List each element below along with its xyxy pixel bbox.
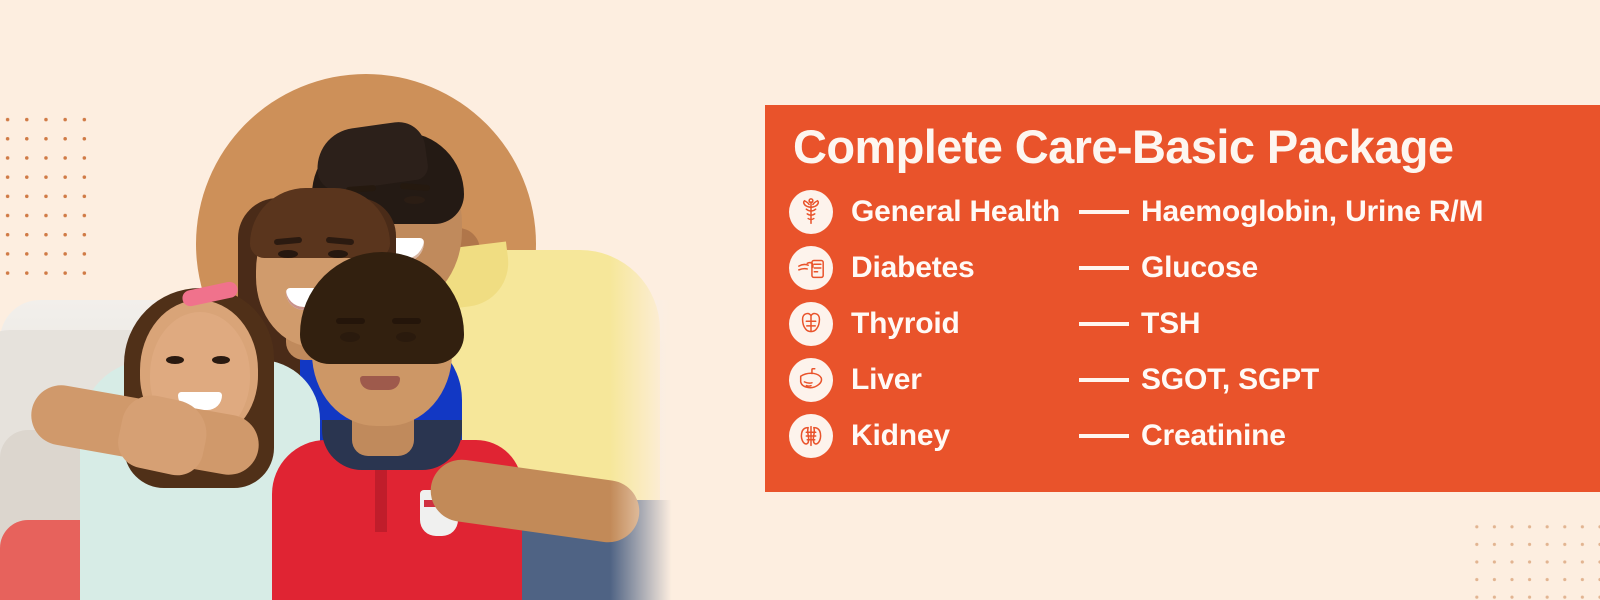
mother-eye-right (328, 250, 348, 258)
health-package-banner: Complete Care-Basic Package (0, 0, 1600, 600)
package-panel: Complete Care-Basic Package (765, 105, 1600, 492)
mother-eye-left (278, 250, 298, 258)
row-separator-dash (1079, 322, 1129, 326)
package-title: Complete Care-Basic Package (793, 123, 1600, 170)
package-row-tests: Creatinine (1141, 419, 1600, 453)
package-row-system: Liver (851, 363, 1079, 397)
boy-brow-right (392, 318, 421, 324)
package-row-system: General Health (851, 195, 1079, 229)
package-row-system: Kidney (851, 419, 1079, 453)
package-row-tests: TSH (1141, 307, 1600, 341)
row-separator-dash (1079, 434, 1129, 438)
thyroid-icon (789, 302, 833, 346)
family-photo (0, 0, 674, 600)
package-row-tests: Haemoglobin, Urine R/M (1141, 195, 1600, 229)
package-test-list: General Health Haemoglobin, Urine R/M (779, 184, 1600, 464)
package-row-tests: SGOT, SGPT (1141, 363, 1600, 397)
girl-eye-right (212, 356, 230, 364)
liver-icon (789, 358, 833, 402)
photo-edge-fade (610, 0, 674, 600)
glucometer-icon (789, 246, 833, 290)
package-row-general-health: General Health Haemoglobin, Urine R/M (779, 184, 1600, 240)
row-separator-dash (1079, 266, 1129, 270)
girl-eye-left (166, 356, 184, 364)
boy-brow-left (336, 318, 365, 324)
boy-eye-right (396, 332, 416, 342)
dot-grid-bottom-right (1466, 516, 1600, 600)
kidney-icon (789, 414, 833, 458)
boy-mouth (360, 376, 400, 390)
boy-eye-left (340, 332, 360, 342)
row-separator-dash (1079, 210, 1129, 214)
package-row-thyroid: Thyroid TSH (779, 296, 1600, 352)
package-row-tests: Glucose (1141, 251, 1600, 285)
caduceus-icon (789, 190, 833, 234)
row-separator-dash (1079, 378, 1129, 382)
package-row-liver: Liver SGOT, SGPT (779, 352, 1600, 408)
package-row-diabetes: Diabetes Glucose (779, 240, 1600, 296)
package-row-kidney: Kidney Creatinine (779, 408, 1600, 464)
package-row-system: Thyroid (851, 307, 1079, 341)
father-eye-right (404, 196, 425, 204)
package-row-system: Diabetes (851, 251, 1079, 285)
